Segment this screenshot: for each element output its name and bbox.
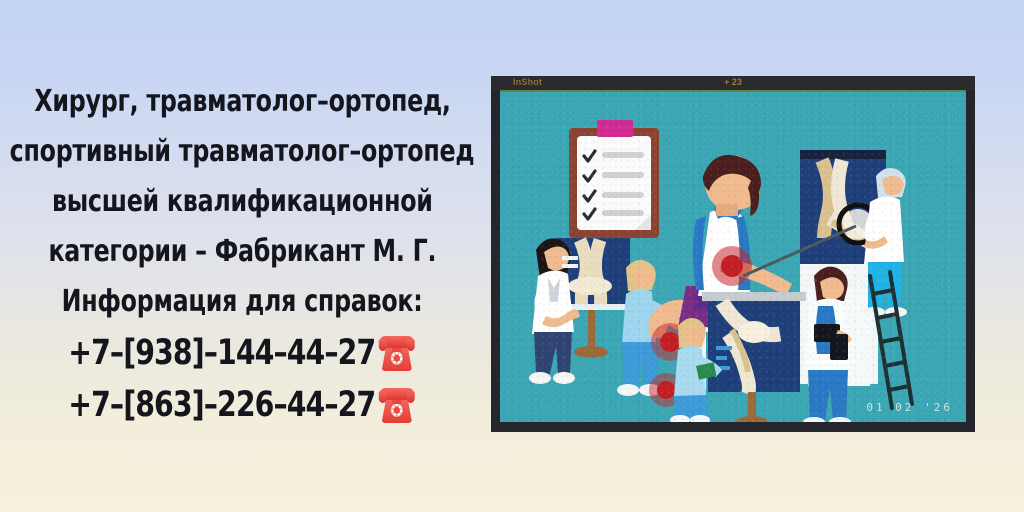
date-stamp: 01 02 '26 [866,401,953,414]
clinic-scene-svg [500,90,966,422]
contact-label: Информация для справок: [62,277,423,327]
clipboard-checklist [569,120,659,238]
clinic-illustration: 01 02 '26 [500,90,966,422]
promo-text-panel: Хирург, травматолог–ортопед, спортивный … [0,0,478,512]
scene-top-edge [500,90,966,92]
phone-row-1[interactable]: +7–[938]–144–44–27 [69,327,416,379]
illustration-frame: InShot + 23 [491,76,975,432]
xray-panel-knee [702,292,806,422]
phone-number-1[interactable]: +7–[938]–144–44–27 [69,327,376,379]
headline-line-2: спортивный травматолог–ортопед [10,127,475,177]
telephone-icon [379,387,415,423]
pain-highlight-core [721,255,743,277]
headline-line-4: категории – Фабрикант М. Г. [48,227,436,277]
telephone-icon [379,335,415,371]
phone-row-2[interactable]: +7–[863]–226–44–27 [69,379,416,431]
frame-counter-label: + 23 [724,77,742,87]
inshot-watermark: InShot [513,77,542,87]
headline-line-3: высшей квалификационной [52,177,433,227]
video-frame-topbar: InShot + 23 [491,76,975,90]
phone-number-2[interactable]: +7–[863]–226–44–27 [69,379,376,431]
pain-highlight-core [657,381,675,399]
headline-line-1: Хирург, травматолог–ортопед, [34,77,450,127]
pain-highlight-core [660,332,680,352]
